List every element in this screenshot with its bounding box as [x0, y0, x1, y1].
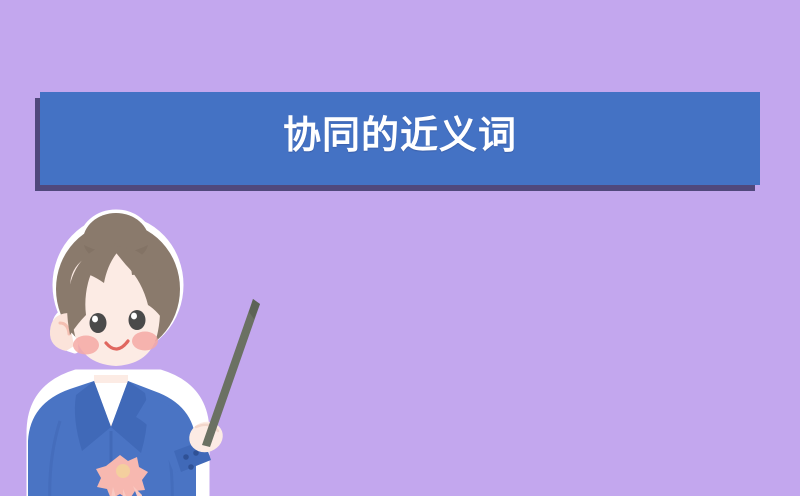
teacher-illustration	[10, 215, 260, 496]
slide-canvas: 协同的近义词	[0, 0, 800, 496]
pointer-stick	[202, 299, 260, 447]
title-banner: 协同的近义词	[40, 92, 760, 185]
page-title: 协同的近义词	[283, 117, 517, 155]
